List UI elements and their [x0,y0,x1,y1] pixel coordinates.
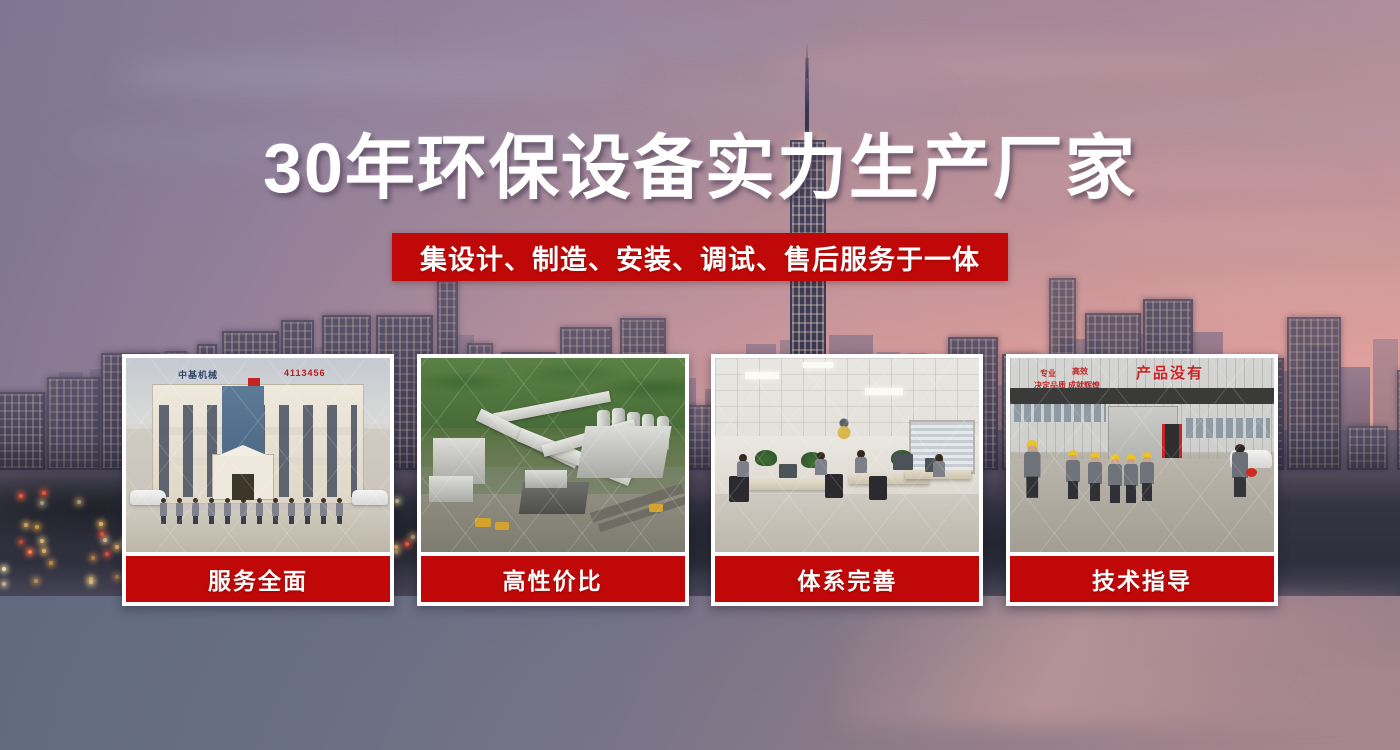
shoreline-light [115,575,119,579]
photo-chair [869,476,887,500]
shoreline-light [115,545,119,549]
photo-staff-person [240,498,247,524]
feature-card-label: 高性价比 [421,556,685,602]
photo-staff-person [815,452,827,476]
photo-ceiling-light [745,372,779,379]
photo-staff-person [336,498,343,524]
shoreline-light [35,525,39,529]
photo-factory-slogan: 专业 [1040,368,1056,379]
shoreline-light [40,501,44,505]
shoreline-light [100,532,104,536]
page-title: 30年环保设备实力生产厂家 [0,133,1400,203]
photo-factory-banner-text: 产品没有 [1136,362,1204,383]
photo-floor [715,494,979,552]
photo-staff-person [256,498,263,524]
photo-monitor [779,464,797,478]
photo-ceiling-light [865,388,903,395]
photo-staff-person [272,498,279,524]
photo-staff-person [288,498,295,524]
photo-staff-person [160,498,167,524]
feature-card[interactable]: 体系完善 [711,354,983,606]
feature-card[interactable]: 产品没有 专业 高效 决定品质 成就辉煌 [1006,354,1278,606]
photo-staff-person [737,454,749,478]
feature-card[interactable]: 中基机械 4113456 服务全面 [122,354,394,606]
shoreline-light [34,579,38,583]
shoreline-light [42,549,46,553]
shoreline-light [105,552,109,556]
photo-side-door [1162,424,1182,458]
photo-excavator [649,504,663,512]
photo-entrance-door [232,474,254,500]
shoreline-light [103,538,107,542]
cloud-streak [760,46,1240,86]
photo-staff-person [320,498,327,524]
shoreline-light [89,577,93,581]
cloud-streak [640,84,940,114]
photo-plant [755,450,777,466]
photo-chair [729,476,749,502]
subtitle-banner: 集设计、制造、安装、调试、售后服务于一体 [392,233,1008,281]
photo-staff-person [304,498,311,524]
feature-card-label-text: 服务全面 [208,562,308,596]
workers-with-hard-hats-at-factory-photo: 产品没有 专业 高效 决定品质 成就辉煌 [1010,358,1274,552]
cloud-streak [120,52,640,98]
photo-staff-person [176,498,183,524]
feature-card-row: 中基机械 4113456 服务全面 [122,354,1278,606]
office-interior-with-staff-at-desks-photo [715,358,979,552]
shoreline-light [99,522,103,526]
photo-factory-slogan: 高效 [1072,366,1088,377]
feature-card-label: 技术指导 [1010,556,1274,602]
photo-monitor [893,454,913,470]
photo-flag [248,378,260,386]
photo-staff-person [855,450,867,474]
shoreline-light [28,550,32,554]
feature-card-label: 服务全面 [126,556,390,602]
shoreline-light [19,540,23,544]
feature-card[interactable]: 高性价比 [417,354,689,606]
photo-staff-person [192,498,199,524]
photo-company-sign: 中基机械 [178,368,218,381]
photo-plant-hall [576,426,671,478]
photo-staff-person [208,498,215,524]
photo-ceiling-light [803,362,833,368]
photo-chair [825,474,843,498]
shoreline-light [49,561,53,565]
photo-roofline [1010,388,1274,404]
photo-phone-number: 4113456 [284,368,326,378]
photo-small-shed [525,470,567,488]
feature-card-label: 体系完善 [715,556,979,602]
photo-excavator [495,522,509,530]
banner-stage: 30年环保设备实力生产厂家 集设计、制造、安装、调试、售后服务于一体 中基机械 … [0,0,1400,750]
photo-excavator [475,518,491,527]
shoreline-light [19,494,23,498]
shoreline-light [2,567,6,571]
photo-staff-person [933,454,945,478]
feature-card-label-text: 体系完善 [797,562,897,596]
shoreline-light [2,582,6,586]
photo-window-row [1186,418,1270,438]
photo-car [352,490,388,505]
subtitle-text: 集设计、制造、安装、调试、售后服务于一体 [420,238,980,277]
feature-card-label-text: 高性价比 [503,562,603,596]
company-headquarters-building-with-staff-photo: 中基机械 4113456 [126,358,390,552]
aerial-view-industrial-plant-photo [421,358,685,552]
shoreline-light [40,539,44,543]
photo-desk [749,480,835,490]
feature-card-label-text: 技术指导 [1092,562,1192,596]
shoreline-light [91,556,95,560]
shoreline-light [42,491,46,495]
cloud-streak [420,18,840,56]
photo-window-row [1014,404,1106,422]
shoreline-light [24,523,28,527]
photo-staff-person [224,498,231,524]
photo-wall-decal [827,414,861,444]
photo-small-shed [429,476,473,502]
shoreline-light [77,500,81,504]
